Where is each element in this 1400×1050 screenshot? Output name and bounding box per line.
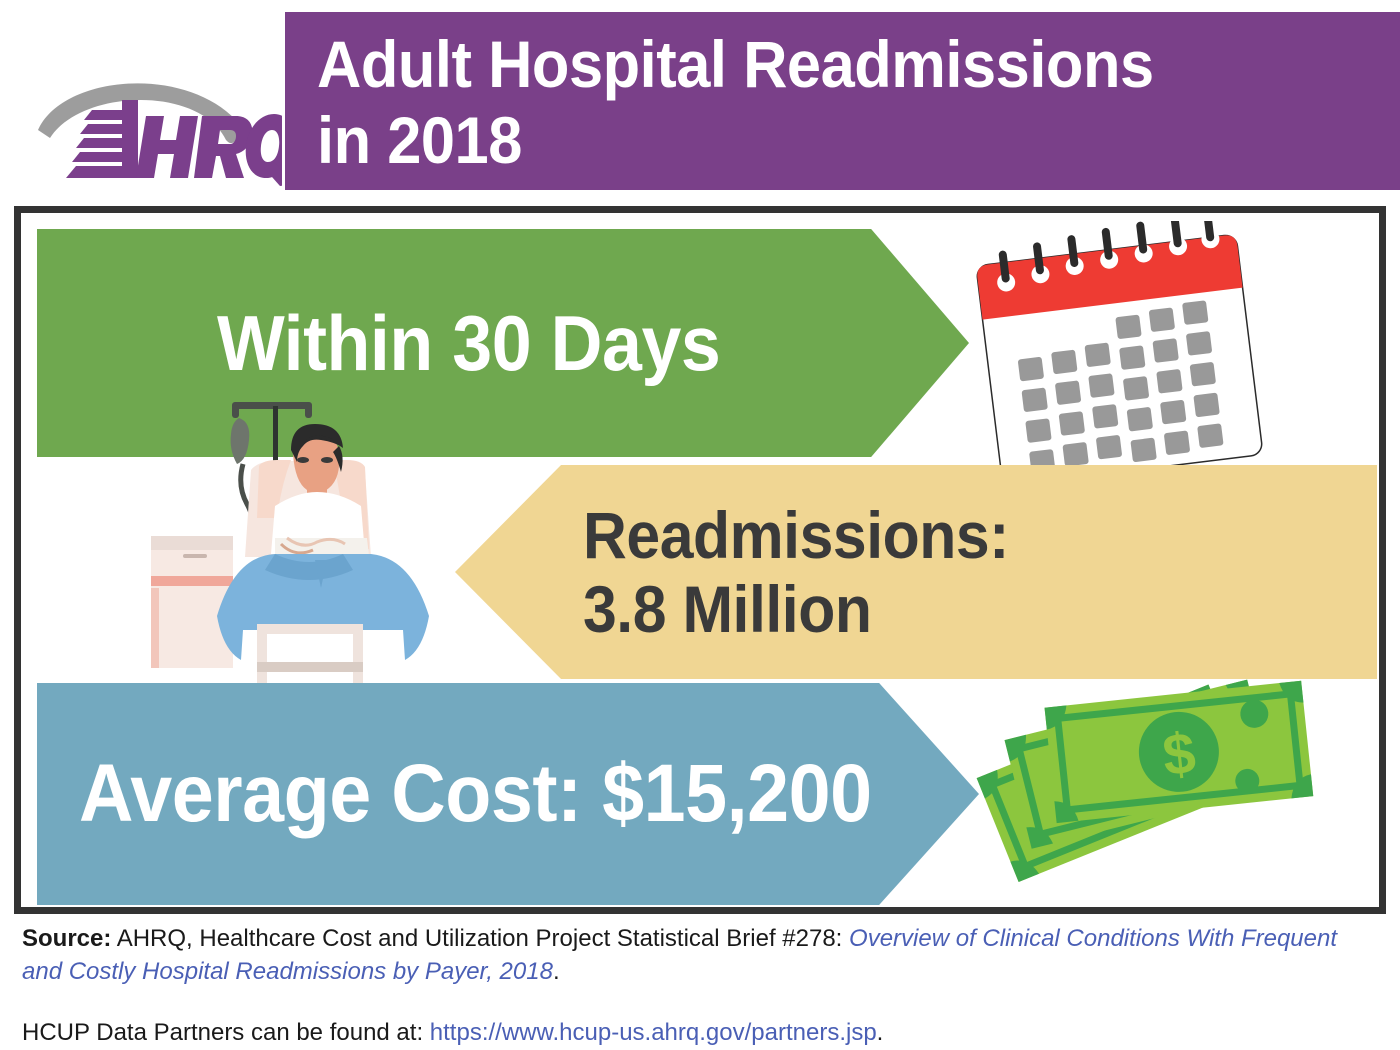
source-label: Source:	[22, 925, 111, 952]
ahrq-logo-svg	[22, 58, 282, 186]
header: Adult Hospital Readmissions in 2018	[0, 0, 1400, 196]
money-illustration-svg: $	[959, 613, 1379, 907]
banner-average-cost: Average Cost: $15,200	[37, 683, 979, 905]
content-canvas: Within 30 Days	[21, 213, 1379, 907]
blanket-icon	[217, 554, 429, 660]
page-title-line1: Adult Hospital Readmissions	[317, 26, 1324, 102]
calendar-icon	[956, 221, 1286, 491]
partners-line: HCUP Data Partners can be found at: http…	[22, 988, 1367, 1049]
content-frame: Within 30 Days	[14, 206, 1386, 914]
banner-blue-label: Average Cost: $15,200	[79, 750, 872, 838]
partners-url-link[interactable]: https://www.hcup-us.ahrq.gov/partners.js…	[430, 1019, 877, 1046]
dollar-bill-front: $	[1045, 681, 1314, 823]
partners-period: .	[877, 1019, 884, 1046]
ahrq-wordmark	[66, 100, 282, 186]
dollar-symbol-icon: $	[1160, 720, 1199, 788]
footer: Source: AHRQ, Healthcare Cost and Utiliz…	[0, 918, 1400, 1049]
dollar-bills-illustration: $	[959, 613, 1379, 907]
banner-yellow-label: Readmissions: 3.8 Million	[583, 498, 1009, 646]
ahrq-logo	[22, 58, 282, 186]
source-period: .	[553, 958, 560, 985]
infographic-page: Adult Hospital Readmissions in 2018 With…	[0, 0, 1400, 1050]
partners-text: HCUP Data Partners can be found at:	[22, 1019, 430, 1046]
source-text: AHRQ, Healthcare Cost and Utilization Pr…	[111, 925, 849, 952]
source-citation: Source: AHRQ, Healthcare Cost and Utiliz…	[22, 918, 1367, 988]
nightstand-icon	[151, 536, 233, 668]
title-bar: Adult Hospital Readmissions in 2018	[285, 12, 1400, 190]
banner-green-label: Within 30 Days	[217, 301, 720, 385]
calendar-icon-svg	[956, 221, 1286, 491]
page-title-line2: in 2018	[317, 102, 1324, 178]
